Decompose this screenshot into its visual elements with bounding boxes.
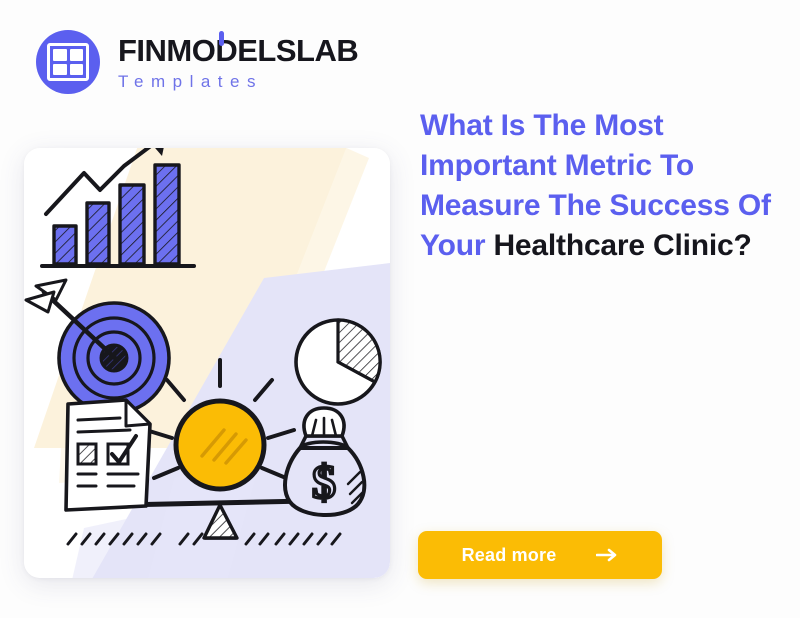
brand-subtitle: Templates: [118, 73, 358, 90]
brand-name: FINMODELSLAB: [118, 35, 358, 66]
yellow-sphere: [176, 401, 264, 489]
illustration-card: $: [24, 148, 390, 578]
logo-mark: [36, 30, 100, 94]
pie-chart: [296, 320, 380, 404]
headline-highlight: Healthcare Clinic?: [493, 229, 751, 262]
read-more-label: Read more: [462, 545, 557, 566]
svg-text:$: $: [312, 456, 336, 509]
poster-canvas: FINMODELSLAB Templates: [0, 0, 800, 618]
brand-text: FINMODELSLAB Templates: [118, 35, 358, 90]
grid-squares-icon: [47, 43, 89, 81]
power-bar-icon: [219, 31, 224, 46]
brand-logo[interactable]: FINMODELSLAB Templates: [36, 30, 358, 94]
checklist-document: [66, 400, 150, 510]
read-more-button[interactable]: Read more: [418, 531, 662, 579]
page-title: What Is The Most Important Metric To Mea…: [420, 106, 776, 266]
business-metrics-illustration: $: [24, 148, 390, 578]
arrow-right-icon: [596, 548, 618, 562]
brand-name-label: FINMODELSLAB: [118, 33, 358, 68]
